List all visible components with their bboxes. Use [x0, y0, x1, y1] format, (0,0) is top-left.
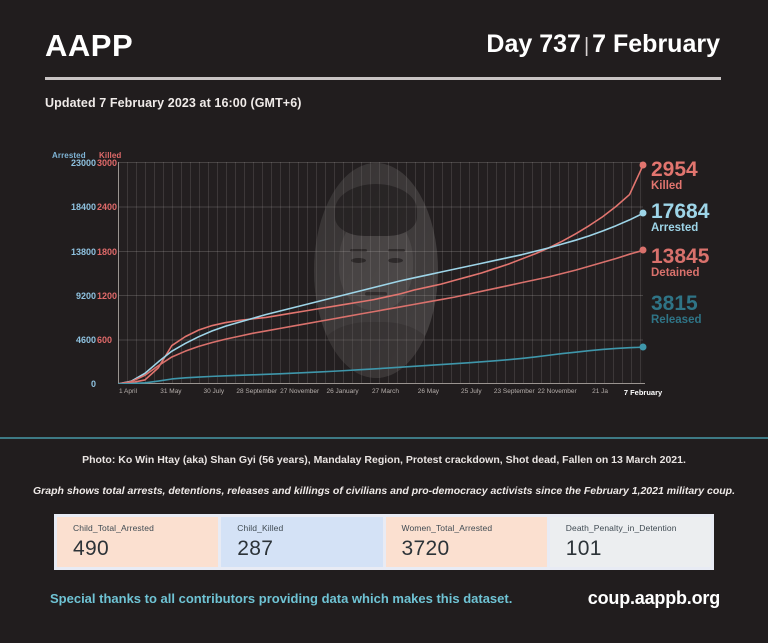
y-tick-left-1: 18400 — [71, 202, 96, 212]
graph-caption: Graph shows total arrests, detentions, r… — [0, 485, 768, 497]
stat-card-child_killed[interactable]: Child_Killed287 — [221, 517, 382, 567]
stat-card-key: Death_Penalty_in_Detention — [566, 523, 711, 533]
endpoint-dot-detained — [640, 247, 647, 254]
thanks-text: Special thanks to all contributors provi… — [50, 591, 512, 606]
stat-card-value: 3720 — [402, 537, 547, 561]
x-tick-11: 21 Ja — [592, 388, 608, 395]
x-tick-5: 26 January — [326, 388, 358, 395]
callout-released: 3815Released — [651, 294, 702, 326]
callout-label-detained: Detained — [651, 267, 709, 279]
stat-card-key: Women_Total_Arrested — [402, 523, 547, 533]
y-tick-left-3: 9200 — [76, 291, 96, 301]
endpoint-dot-arrested — [640, 210, 647, 217]
callout-value-released: 3815 — [651, 294, 702, 314]
stat-card-value: 101 — [566, 537, 711, 561]
stat-card-value: 287 — [237, 537, 382, 561]
callout-arrested: 17684Arrested — [651, 202, 709, 234]
stat-card-women_total_arrested[interactable]: Women_Total_Arrested3720 — [386, 517, 547, 567]
y-tick-left-0: 23000 — [71, 158, 96, 168]
header-rule — [45, 77, 721, 80]
x-tick-7: 26 May — [418, 388, 439, 395]
x-tick-12: 7 February — [624, 388, 662, 397]
x-tick-1: 31 May — [160, 388, 181, 395]
y-tick-left-2: 13800 — [71, 247, 96, 257]
x-tick-8: 25 July — [461, 388, 482, 395]
x-tick-0: 1 April — [119, 388, 137, 395]
series-line-detained — [118, 250, 643, 384]
day-counter: Day 737 — [486, 30, 581, 58]
endpoint-dot-released — [640, 344, 647, 351]
x-tick-4: 27 November — [280, 388, 319, 395]
y-tick-left-4: 4600 — [76, 335, 96, 345]
callout-value-killed: 2954 — [651, 160, 698, 180]
callout-label-released: Released — [651, 314, 702, 326]
callout-label-arrested: Arrested — [651, 222, 709, 234]
stat-card-key: Child_Killed — [237, 523, 382, 533]
stat-card-key: Child_Total_Arrested — [73, 523, 218, 533]
x-tick-3: 28 September — [236, 388, 277, 395]
series-lines — [118, 162, 643, 384]
report-date: 7 February — [592, 30, 720, 58]
updated-timestamp: Updated 7 February 2023 at 16:00 (GMT+6) — [45, 96, 302, 110]
y-tick-left-5: 0 — [91, 379, 96, 389]
callout-killed: 2954Killed — [651, 160, 698, 192]
chart: Arrested Killed 23000 18400 13800 9200 4… — [0, 140, 768, 415]
website-link[interactable]: coup.aappb.org — [588, 588, 720, 609]
x-tick-9: 23 September — [494, 388, 535, 395]
callout-detained: 13845Detained — [651, 247, 709, 279]
stat-card-death_penalty_in_detention[interactable]: Death_Penalty_in_Detention101 — [550, 517, 711, 567]
y-tick-right-0: 3000 — [97, 158, 117, 168]
title-separator: | — [581, 35, 592, 57]
brand-title: AAPP — [45, 28, 133, 64]
callout-value-arrested: 17684 — [651, 202, 709, 222]
y-tick-right-1: 2400 — [97, 202, 117, 212]
x-tick-2: 30 July — [204, 388, 225, 395]
day-date-title: Day 737|7 February — [486, 30, 720, 59]
endpoint-dot-killed — [640, 162, 647, 169]
series-line-killed — [118, 165, 643, 384]
series-line-released — [118, 347, 643, 384]
x-tick-10: 22 November — [538, 388, 577, 395]
section-divider — [0, 437, 768, 439]
stat-card-child_total_arrested[interactable]: Child_Total_Arrested490 — [57, 517, 218, 567]
photo-caption: Photo: Ko Win Htay (aka) Shan Gyi (56 ye… — [0, 454, 768, 466]
header: AAPP Day 737|7 February — [45, 28, 720, 80]
y-tick-right-4: 600 — [97, 335, 112, 345]
stat-card-value: 490 — [73, 537, 218, 561]
y-tick-right-3: 1200 — [97, 291, 117, 301]
x-tick-6: 27 March — [372, 388, 399, 395]
callout-label-killed: Killed — [651, 180, 698, 192]
callout-value-detained: 13845 — [651, 247, 709, 267]
y-tick-right-2: 1800 — [97, 247, 117, 257]
stat-cards: Child_Total_Arrested490Child_Killed287Wo… — [54, 514, 714, 570]
aapp-daily-update-poster: AAPP Day 737|7 February Updated 7 Februa… — [0, 0, 768, 643]
